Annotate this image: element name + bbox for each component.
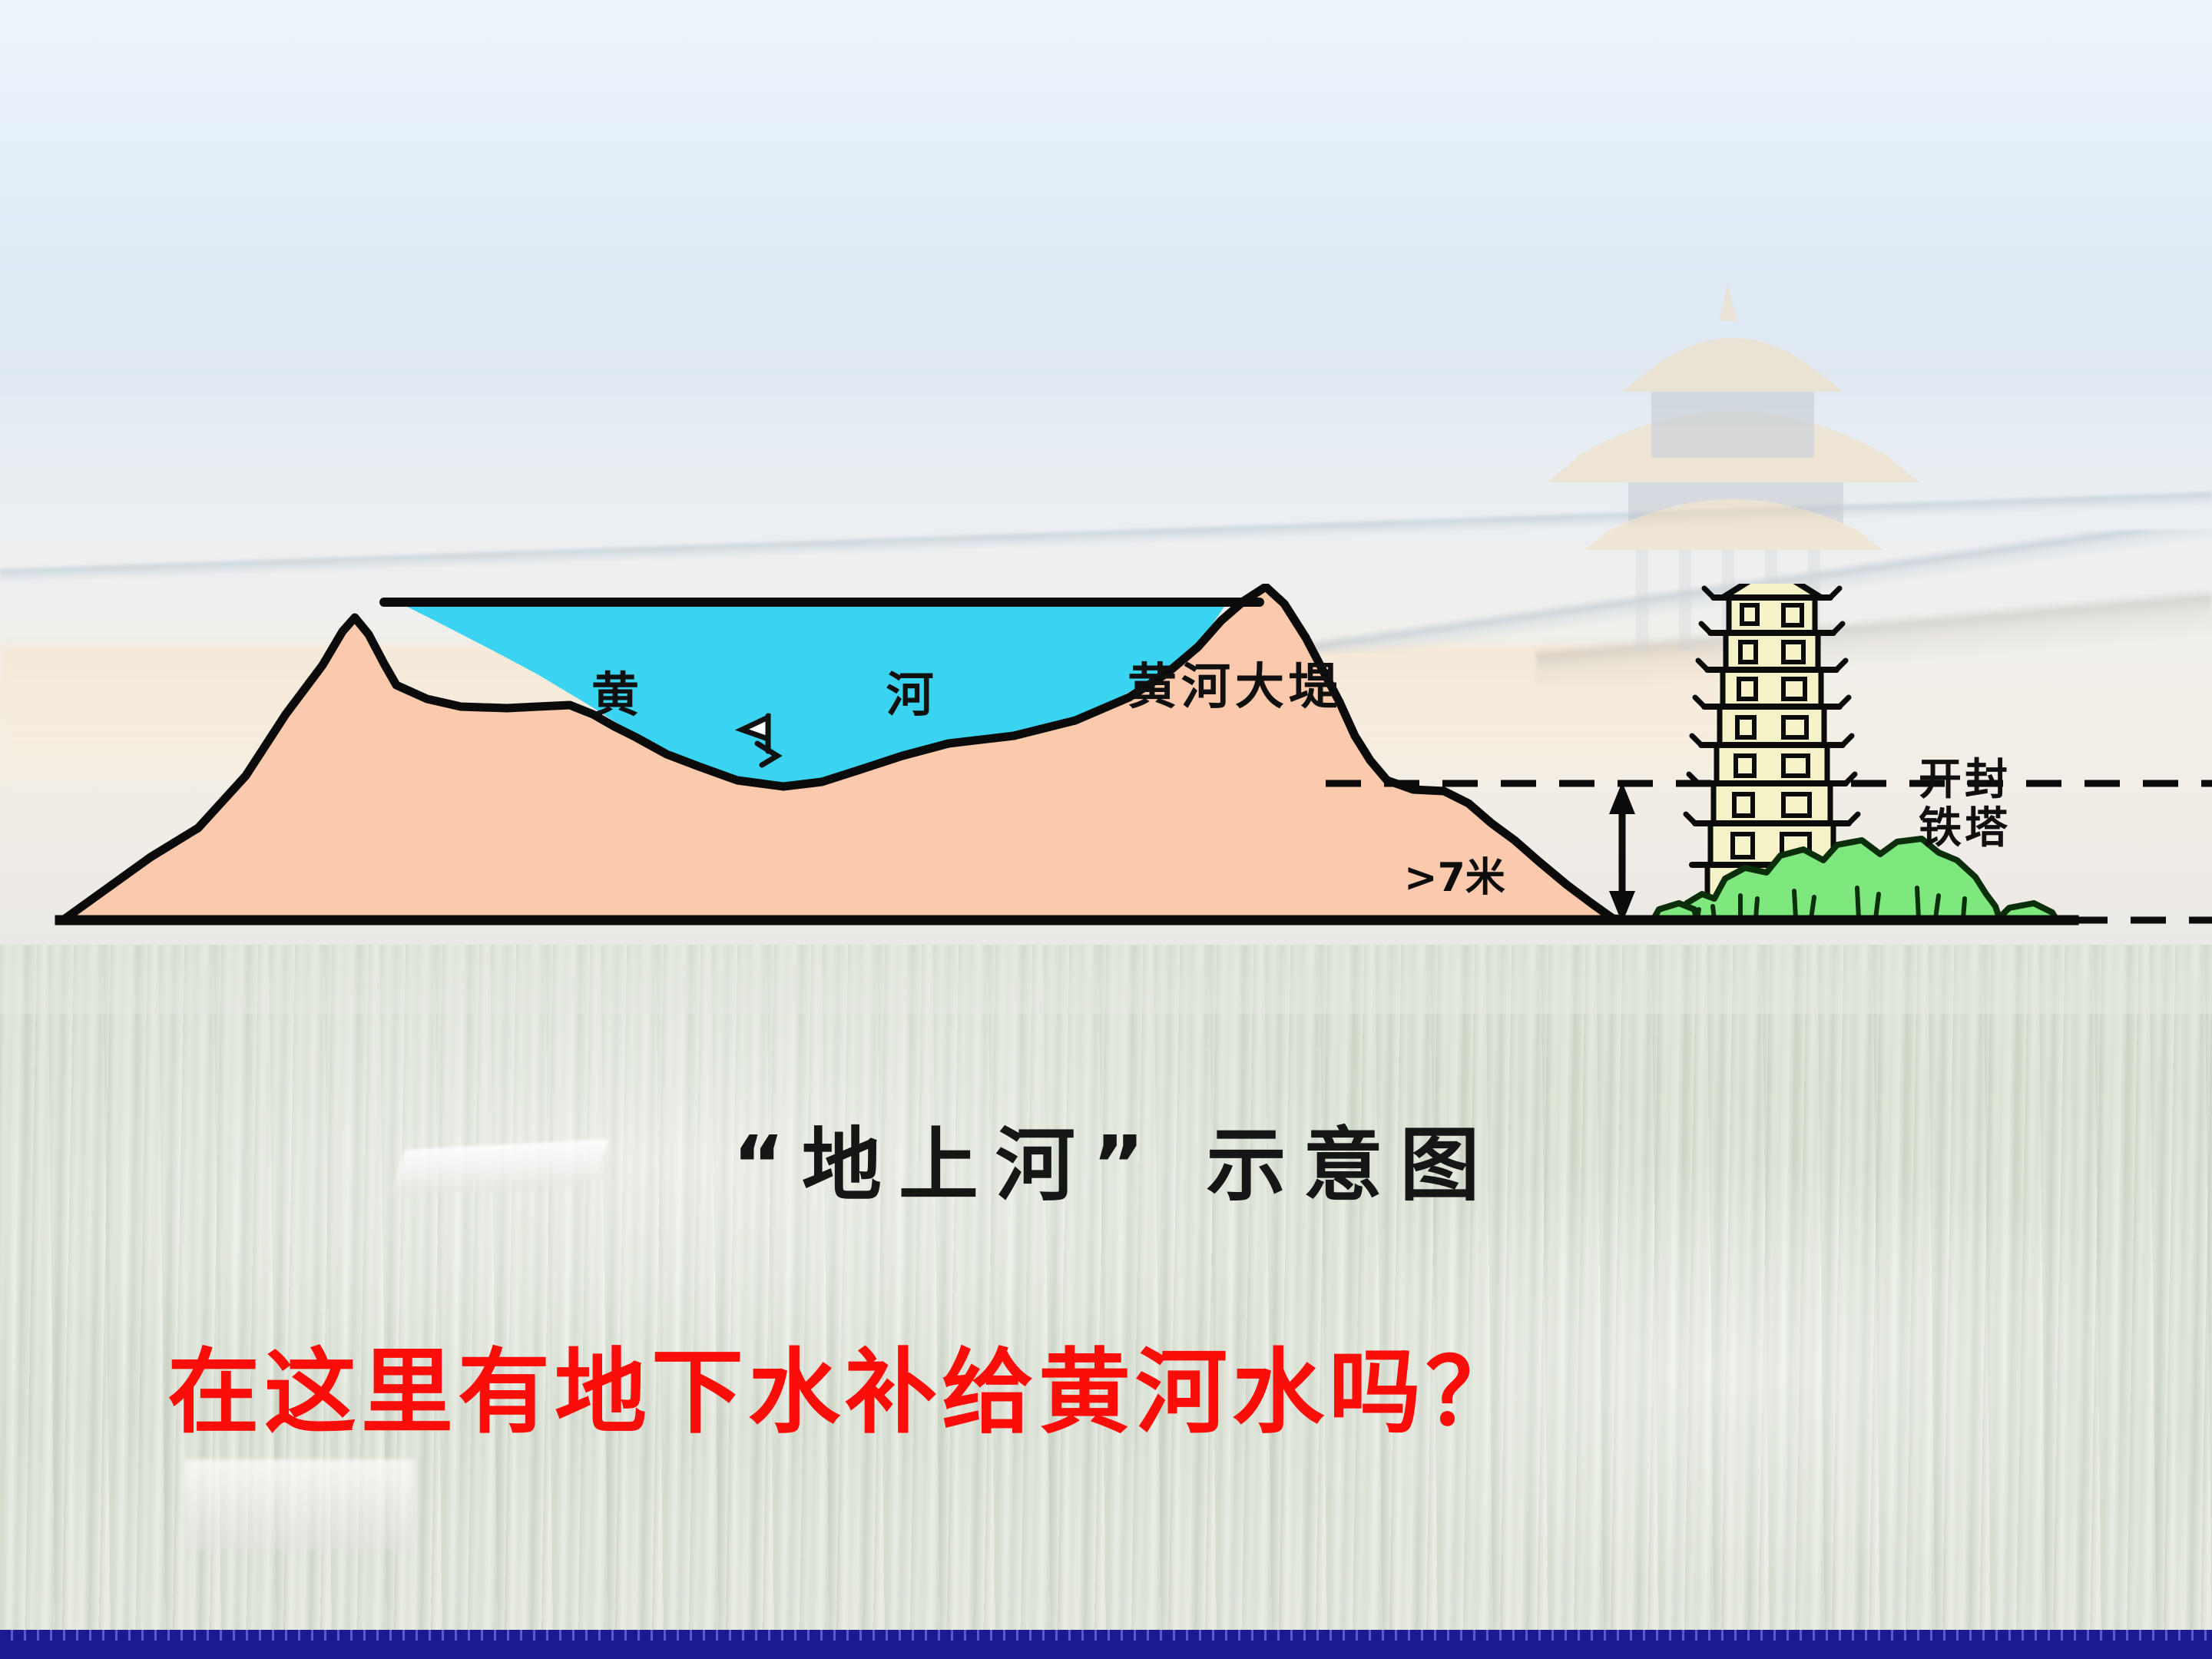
height-arrow-icon <box>1609 782 1635 923</box>
iron-tower-label-line2: 铁塔 <box>1919 805 2011 853</box>
iron-tower-label: 开封 铁塔 <box>1919 757 2011 853</box>
slide-canvas: 黄 河 黄河大堤 >7米 开封 铁塔 “地上河” 示意图 在这里有地下水补给黄河… <box>0 0 2212 1659</box>
height-label: >7米 <box>1404 845 1505 902</box>
bottom-bar-ticks <box>0 1630 2212 1641</box>
levee-label: 黄河大堤 <box>1128 662 1343 714</box>
cross-section-diagram <box>0 584 2212 983</box>
question-text: 在这里有地下水补给黄河水吗？ <box>167 1317 1522 1451</box>
river-label: 黄 河 <box>591 670 1049 720</box>
forest-haze <box>0 945 2212 1659</box>
page-title: “地上河” 示意图 <box>0 1100 2212 1216</box>
bottom-bar <box>0 1630 2212 1659</box>
forest-building-roof-2 <box>184 1459 415 1551</box>
iron-tower-label-line1: 开封 <box>1919 757 2011 805</box>
